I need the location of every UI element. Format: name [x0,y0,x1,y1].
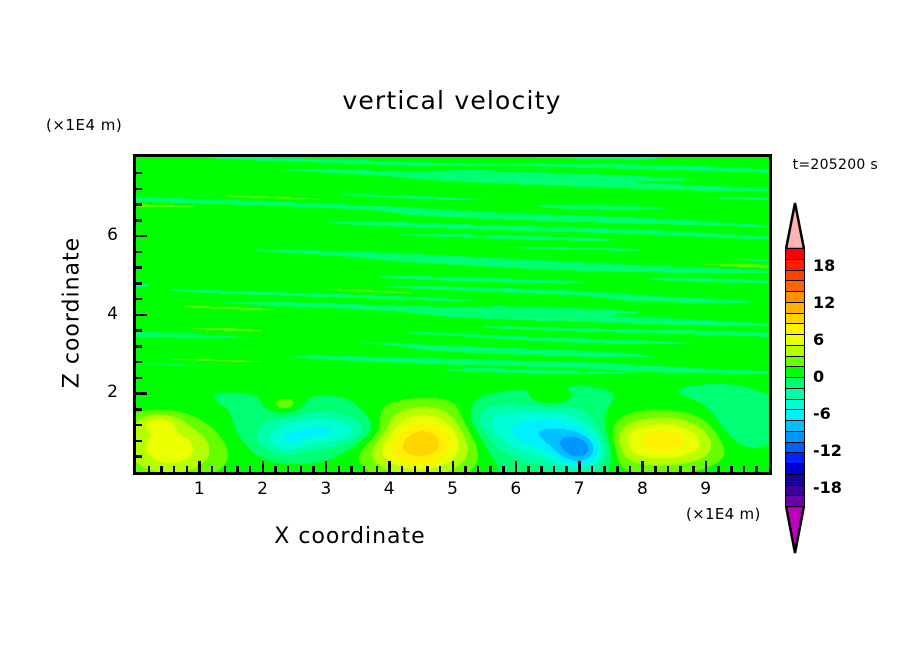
x-major-tick [388,461,391,472]
y-axis-unit-label: (×1E4 m) [46,116,122,134]
x-major-tick [641,461,644,472]
x-minor-tick [186,466,189,472]
y-minor-tick [136,455,142,458]
plot-area [133,154,772,475]
x-minor-tick [300,466,303,472]
colorbar-cap-top [785,202,805,249]
x-minor-tick [401,466,404,472]
x-minor-tick [755,466,758,472]
x-minor-tick [629,466,632,472]
y-minor-tick [136,361,142,364]
x-major-tick [705,461,708,472]
x-minor-tick [667,466,670,472]
x-minor-tick [717,466,720,472]
x-minor-tick [350,466,353,472]
x-minor-tick [743,466,746,472]
x-major-tick [578,461,581,472]
colorbar: 181260-6-12-18 [779,200,809,510]
x-tick-label: 5 [438,479,468,499]
x-minor-tick [527,466,530,472]
x-minor-tick [603,466,606,472]
y-minor-tick [136,424,142,427]
y-minor-tick [136,188,142,191]
y-minor-tick [136,172,142,175]
y-major-tick [136,392,147,395]
colorbar-tick-label: 0 [813,367,824,386]
x-minor-tick [553,466,556,472]
y-minor-tick [136,203,142,206]
x-minor-tick [338,466,341,472]
y-tick-label: 4 [92,304,118,324]
x-minor-tick [591,466,594,472]
x-minor-tick [173,466,176,472]
x-minor-tick [464,466,467,472]
colorbar-tick-label: 18 [813,256,835,275]
colorbar-tick-label: -6 [813,404,831,423]
x-major-tick [515,461,518,472]
contour-field [136,157,769,472]
y-tick-label: 6 [92,225,118,245]
y-major-tick [136,235,147,238]
x-major-tick [262,461,265,472]
x-minor-tick [692,466,695,472]
x-tick-label: 4 [374,479,404,499]
y-axis-title: Z coordinate [60,213,85,413]
colorbar-tick-label: -12 [813,441,842,460]
x-minor-tick [616,466,619,472]
x-minor-tick [502,466,505,472]
x-minor-tick [148,466,151,472]
x-minor-tick [426,466,429,472]
y-minor-tick [136,345,142,348]
y-minor-tick [136,251,142,254]
x-minor-tick [236,466,239,472]
y-minor-tick [136,329,142,332]
x-minor-tick [414,466,417,472]
x-tick-label: 6 [501,479,531,499]
y-minor-tick [136,377,142,380]
colorbar-tick-label: -18 [813,478,842,497]
x-tick-label: 3 [311,479,341,499]
x-minor-tick [224,466,227,472]
y-minor-tick [136,219,142,222]
x-minor-tick [439,466,442,472]
x-tick-label: 2 [248,479,278,499]
x-minor-tick [654,466,657,472]
x-tick-label: 1 [184,479,214,499]
y-major-tick [136,314,147,317]
x-tick-label: 9 [691,479,721,499]
x-minor-tick [211,466,214,472]
x-minor-tick [376,466,379,472]
x-minor-tick [565,466,568,472]
x-axis-unit-label: (×1E4 m) [686,505,761,523]
x-major-tick [452,461,455,472]
colorbar-tick-label: 6 [813,330,824,349]
x-minor-tick [679,466,682,472]
x-minor-tick [249,466,252,472]
x-minor-tick [730,466,733,472]
colorbar-cap-bottom [785,506,805,554]
x-minor-tick [287,466,290,472]
chart-title: vertical velocity [0,86,904,115]
x-minor-tick [477,466,480,472]
x-tick-label: 7 [564,479,594,499]
colorbar-tick-label: 12 [813,293,835,312]
timestamp-annotation: t=205200 s [793,157,878,173]
x-major-tick [325,461,328,472]
y-minor-tick [136,298,142,301]
x-minor-tick [274,466,277,472]
y-minor-tick [136,266,142,269]
x-minor-tick [540,466,543,472]
x-axis-title: X coordinate [0,524,700,549]
y-minor-tick [136,282,142,285]
x-tick-label: 8 [627,479,657,499]
y-minor-tick [136,408,142,411]
x-minor-tick [312,466,315,472]
x-minor-tick [160,466,163,472]
x-minor-tick [363,466,366,472]
y-minor-tick [136,440,142,443]
x-major-tick [198,461,201,472]
y-tick-label: 2 [92,382,118,402]
x-minor-tick [489,466,492,472]
